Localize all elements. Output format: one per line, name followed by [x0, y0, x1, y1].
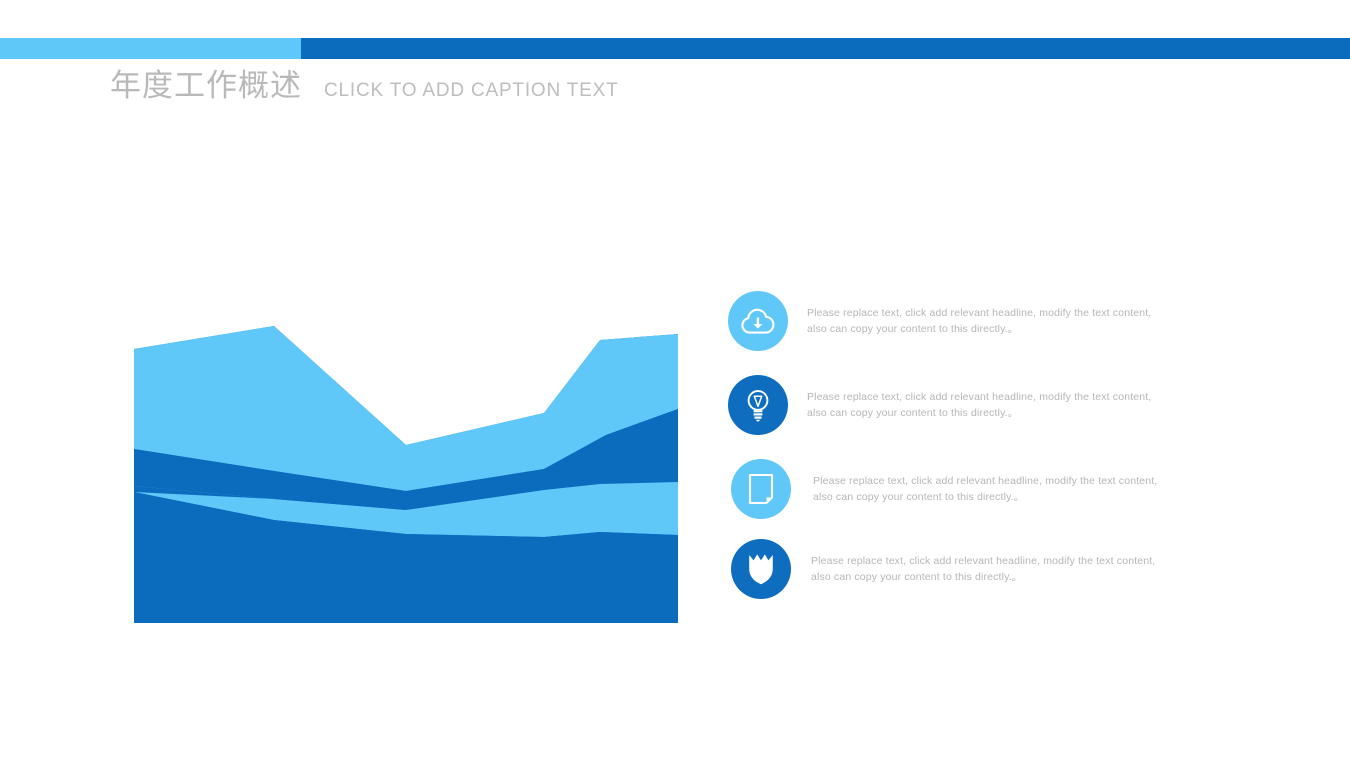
list-item-text: Please replace text, click add relevant …: [807, 305, 1167, 338]
top-accent-bar-right-segment: [301, 38, 1350, 59]
list-item[interactable]: Please replace text, click add relevant …: [731, 459, 1231, 519]
top-accent-bar: [0, 38, 1350, 59]
list-item-text: Please replace text, click add relevant …: [813, 473, 1173, 506]
page-title: 年度工作概述: [110, 70, 302, 101]
list-item[interactable]: Please replace text, click add relevant …: [728, 375, 1228, 435]
document-page-icon[interactable]: [731, 459, 791, 519]
lightbulb-icon[interactable]: [728, 375, 788, 435]
shield-crown-icon[interactable]: [731, 539, 791, 599]
stacked-area-chart: [134, 294, 678, 623]
area-chart-svg: [134, 294, 678, 623]
top-accent-bar-left-segment: [0, 38, 301, 59]
cloud-download-icon[interactable]: [728, 291, 788, 351]
page-caption: CLICK TO ADD CAPTION TEXT: [324, 81, 619, 100]
list-item-text: Please replace text, click add relevant …: [811, 553, 1171, 586]
list-item[interactable]: Please replace text, click add relevant …: [731, 539, 1231, 599]
list-item[interactable]: Please replace text, click add relevant …: [728, 291, 1228, 351]
slide-header: 年度工作概述 CLICK TO ADD CAPTION TEXT: [110, 70, 619, 101]
list-item-text: Please replace text, click add relevant …: [807, 389, 1167, 422]
